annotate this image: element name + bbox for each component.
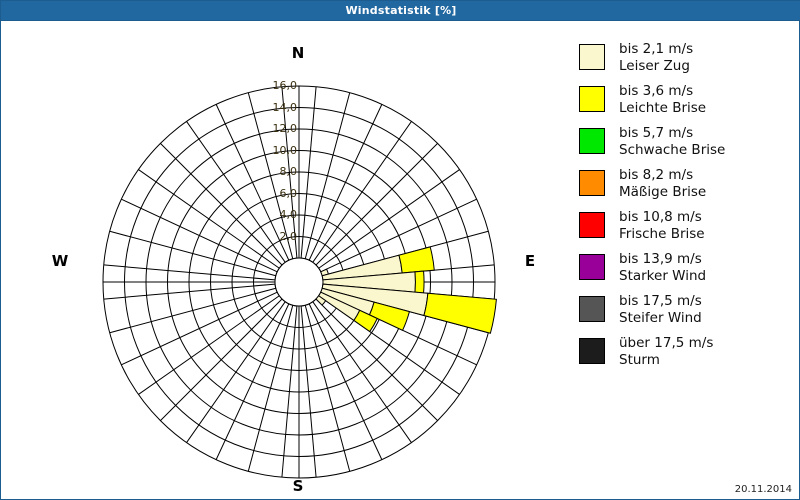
legend-label-speed: bis 2,1 m/s: [619, 41, 693, 57]
legend-label-name: Mäßige Brise: [619, 184, 706, 201]
legend-swatch: [579, 128, 605, 154]
radial-tick-label: 12,0: [257, 122, 297, 135]
legend-label: bis 17,5 m/sSteifer Wind: [619, 293, 702, 327]
legend-item[interactable]: bis 3,6 m/sLeichte Brise: [579, 83, 791, 117]
wind-rose-plot: N E S W 2,04,06,08,010,012,014,016,0: [2, 22, 562, 499]
legend-item[interactable]: bis 17,5 m/sSteifer Wind: [579, 293, 791, 327]
wind-rose-petal-segment: [415, 271, 424, 293]
radial-tick-label: 10,0: [257, 144, 297, 157]
wind-statistics-window: Windstatistik [%] N E S W 2,04,06,08,010…: [0, 0, 800, 500]
legend-label-name: Starker Wind: [619, 268, 706, 285]
window-title-bar: Windstatistik [%]: [1, 1, 800, 21]
legend-label-name: Frische Brise: [619, 226, 705, 243]
legend-label-name: Leichte Brise: [619, 100, 706, 117]
compass-label-east: E: [510, 252, 550, 270]
legend-label: bis 13,9 m/sStarker Wind: [619, 251, 706, 285]
legend: bis 2,1 m/sLeiser Zugbis 3,6 m/sLeichte …: [579, 41, 791, 377]
legend-label: bis 3,6 m/sLeichte Brise: [619, 83, 706, 117]
legend-item[interactable]: bis 10,8 m/sFrische Brise: [579, 209, 791, 243]
legend-label-speed: über 17,5 m/s: [619, 335, 713, 351]
radial-tick-label: 14,0: [257, 101, 297, 114]
radial-tick-label: 16,0: [257, 79, 297, 92]
radial-tick-label: 8,0: [257, 165, 297, 178]
legend-swatch: [579, 44, 605, 70]
legend-label-name: Steifer Wind: [619, 310, 702, 327]
radial-tick-label: 4,0: [257, 208, 297, 221]
legend-item[interactable]: bis 5,7 m/sSchwache Brise: [579, 125, 791, 159]
legend-swatch: [579, 296, 605, 322]
legend-swatch: [579, 86, 605, 112]
legend-swatch: [579, 170, 605, 196]
window-title: Windstatistik [%]: [345, 4, 456, 17]
legend-label-speed: bis 3,6 m/s: [619, 83, 693, 99]
legend-label: bis 5,7 m/sSchwache Brise: [619, 125, 725, 159]
legend-label: bis 2,1 m/sLeiser Zug: [619, 41, 693, 75]
legend-swatch: [579, 254, 605, 280]
legend-item[interactable]: bis 13,9 m/sStarker Wind: [579, 251, 791, 285]
legend-swatch: [579, 338, 605, 364]
legend-label-name: Leiser Zug: [619, 58, 693, 75]
legend-label: über 17,5 m/sSturm: [619, 335, 713, 369]
polar-grid: [103, 86, 495, 478]
radial-tick-label: 6,0: [257, 187, 297, 200]
legend-label-speed: bis 13,9 m/s: [619, 251, 702, 267]
legend-label: bis 10,8 m/sFrische Brise: [619, 209, 705, 243]
radial-tick-label: 2,0: [257, 230, 297, 243]
legend-item[interactable]: über 17,5 m/sSturm: [579, 335, 791, 369]
legend-swatch: [579, 212, 605, 238]
legend-item[interactable]: bis 8,2 m/sMäßige Brise: [579, 167, 791, 201]
compass-label-south: S: [278, 477, 318, 495]
footer-date: 20.11.2014: [735, 484, 792, 495]
compass-label-west: W: [40, 252, 80, 270]
wind-rose-petal-segment: [424, 293, 496, 333]
legend-label-speed: bis 10,8 m/s: [619, 209, 702, 225]
legend-label-speed: bis 17,5 m/s: [619, 293, 702, 309]
legend-label: bis 8,2 m/sMäßige Brise: [619, 167, 706, 201]
legend-label-name: Schwache Brise: [619, 142, 725, 159]
legend-label-name: Sturm: [619, 352, 713, 369]
legend-label-speed: bis 5,7 m/s: [619, 125, 693, 141]
legend-label-speed: bis 8,2 m/s: [619, 167, 693, 183]
legend-item[interactable]: bis 2,1 m/sLeiser Zug: [579, 41, 791, 75]
wind-rose-svg: [2, 22, 562, 499]
wind-rose-petals: [316, 247, 496, 333]
compass-label-north: N: [278, 44, 318, 62]
